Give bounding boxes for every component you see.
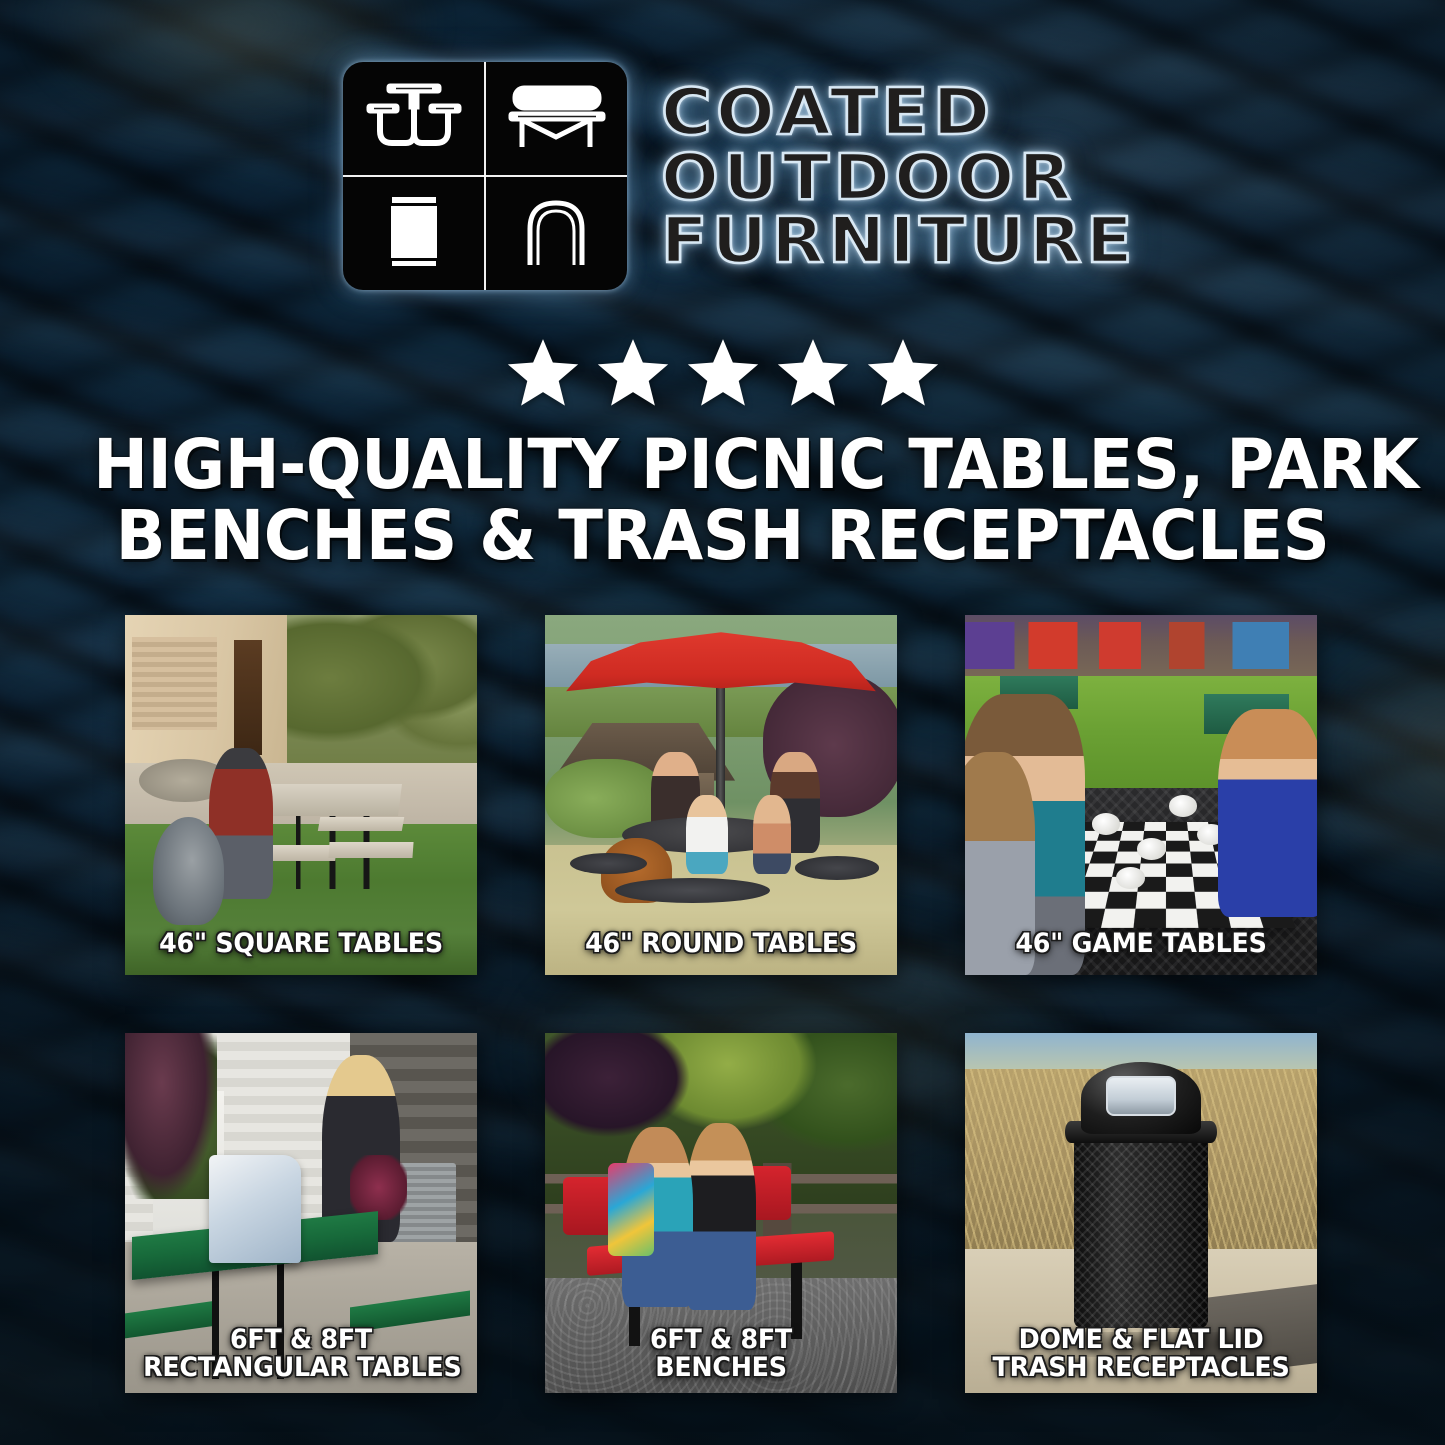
headline-line-2: BENCHES & TRASH RECEPTACLES: [93, 501, 1352, 572]
brand-wordmark: COATED OUTDOOR FURNITURE: [661, 80, 1102, 272]
star-rating: [0, 336, 1445, 410]
product-tile-rectangular-tables[interactable]: 6FT & 8FT RECTANGULAR TABLES: [125, 1033, 477, 1393]
product-caption-round-tables: 46" ROUND TABLES: [563, 930, 879, 959]
product-photo-game-tables: [965, 615, 1317, 975]
caption-line-2: TRASH RECEPTACLES: [983, 1354, 1299, 1383]
caption-line-2: BENCHES: [563, 1354, 879, 1383]
star-icon-3: [686, 336, 760, 410]
bench-table-icon: [485, 62, 627, 176]
trash-receptacle-icon: [343, 176, 485, 290]
picnic-table-icon: [343, 62, 485, 176]
product-photo-round-tables: [545, 615, 897, 975]
product-caption-game-tables: 46" GAME TABLES: [983, 930, 1299, 959]
product-tile-square-tables[interactable]: 46" SQUARE TABLES: [125, 615, 477, 975]
product-photo-square-tables: [125, 615, 477, 975]
bike-rack-arch-icon: [485, 176, 627, 290]
caption-line-1: 6FT & 8FT: [563, 1326, 879, 1355]
product-tile-benches[interactable]: 6FT & 8FT BENCHES: [545, 1033, 897, 1393]
product-tile-trash-receptacles[interactable]: DOME & FLAT LID TRASH RECEPTACLES: [965, 1033, 1317, 1393]
brand-logo-mark: [343, 62, 627, 290]
caption-line-1: 46" ROUND TABLES: [563, 930, 879, 959]
star-icon-5: [866, 336, 940, 410]
headline-line-1: HIGH-QUALITY PICNIC TABLES, PARK: [93, 430, 1352, 501]
caption-line-1: 46" GAME TABLES: [983, 930, 1299, 959]
product-tile-round-tables[interactable]: 46" ROUND TABLES: [545, 615, 897, 975]
caption-line-1: DOME & FLAT LID: [983, 1326, 1299, 1355]
star-icon-1: [506, 336, 580, 410]
caption-line-1: 6FT & 8FT: [143, 1326, 459, 1355]
star-icon-4: [776, 336, 850, 410]
product-caption-square-tables: 46" SQUARE TABLES: [143, 930, 459, 959]
product-caption-rectangular-tables: 6FT & 8FT RECTANGULAR TABLES: [143, 1326, 459, 1383]
product-grid: 46" SQUARE TABLES: [125, 615, 1321, 1393]
brand-name-line-1: COATED: [661, 82, 994, 145]
product-tile-game-tables[interactable]: 46" GAME TABLES: [965, 615, 1317, 975]
page-title: HIGH-QUALITY PICNIC TABLES, PARK BENCHES…: [93, 430, 1352, 572]
product-caption-trash-receptacles: DOME & FLAT LID TRASH RECEPTACLES: [983, 1326, 1299, 1383]
promo-poster: COATED OUTDOOR FURNITURE HIGH-QUALITY PI…: [0, 0, 1445, 1445]
brand-name-line-3: FURNITURE: [661, 210, 1137, 272]
caption-line-2: RECTANGULAR TABLES: [143, 1354, 459, 1383]
product-caption-benches: 6FT & 8FT BENCHES: [563, 1326, 879, 1383]
brand-header: COATED OUTDOOR FURNITURE: [0, 62, 1445, 290]
star-icon-2: [596, 336, 670, 410]
caption-line-1: 46" SQUARE TABLES: [143, 930, 459, 959]
brand-name-line-2: OUTDOOR: [661, 147, 1075, 209]
